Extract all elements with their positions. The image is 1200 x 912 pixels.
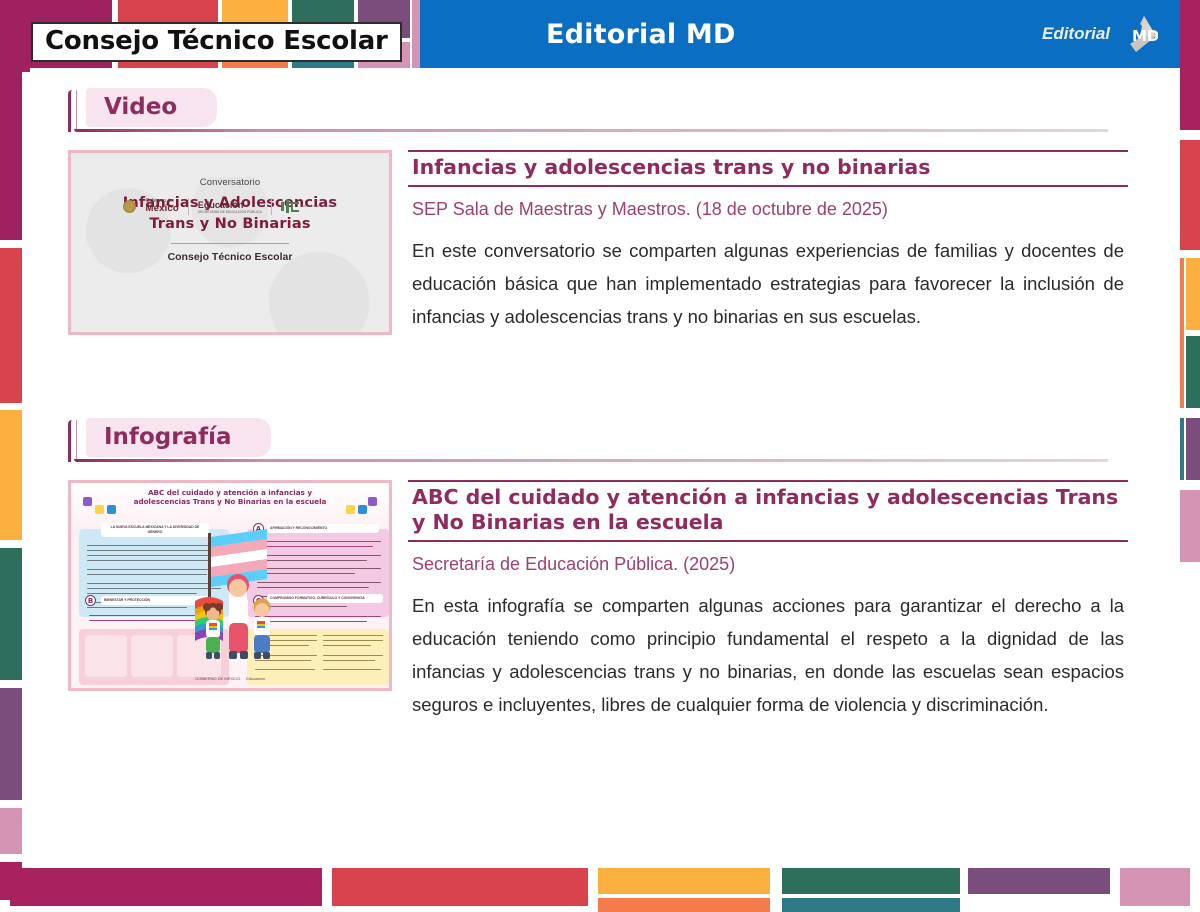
cube-c-left-icon xyxy=(95,505,104,514)
logo-wordmark: Editorial xyxy=(1042,24,1110,44)
video-cover-rule xyxy=(171,243,289,244)
cube-c-right-icon xyxy=(346,505,355,514)
bottom-decor-block-7 xyxy=(1120,868,1190,906)
brand-title: Editorial MD xyxy=(546,19,736,50)
infographic-cover-title: ABC del cuidado y atención a infancias y… xyxy=(122,488,338,506)
mexico-seal-icon xyxy=(123,200,136,213)
logo-divider xyxy=(188,198,189,215)
section-header-infografia: Infografía xyxy=(68,420,1128,462)
logo-divider-2 xyxy=(271,198,272,215)
resource-row-video: Gobierno de México Educación SECRETARÍA … xyxy=(68,150,1128,335)
resource-row-infografia: ABC del cuidado y atención a infancias y… xyxy=(68,480,1128,721)
section-video: Video Gobierno de México xyxy=(68,90,1128,335)
bottom-decor-block-6 xyxy=(968,868,1110,894)
bottom-decor-block-0 xyxy=(10,868,322,906)
right-decor-block-8 xyxy=(1180,490,1200,562)
video-source: SEP Sala de Maestras y Maestros. (18 de … xyxy=(408,187,1128,220)
bottom-decor-block-5 xyxy=(782,898,960,912)
video-cover-title-2: Trans y No Binarias xyxy=(71,215,389,234)
left-decor-block-5 xyxy=(0,808,22,854)
left-decor-block-4 xyxy=(0,688,22,800)
section-label-video: Video xyxy=(86,88,217,127)
illustration-trans-flag-figures xyxy=(189,523,285,673)
section-label-infografia: Infografía xyxy=(86,418,271,457)
video-cover-art: Gobierno de México Educación SECRETARÍA … xyxy=(71,177,389,335)
section-accent-bar xyxy=(68,90,77,132)
infographic-thumbnail-wrap[interactable]: ABC del cuidado y atención a infancias y… xyxy=(68,480,392,721)
page-title: Consejo Técnico Escolar xyxy=(31,22,402,62)
section-underline xyxy=(74,129,1108,132)
video-thumbnail[interactable]: Gobierno de México Educación SECRETARÍA … xyxy=(68,150,392,335)
infografia-title: ABC del cuidado y atención a infancias y… xyxy=(408,480,1128,542)
video-kicker: Conversatorio xyxy=(71,177,389,188)
footer-gobierno-logo: GOBIERNO DE MÉXICO xyxy=(195,676,240,681)
bottom-decor-block-3 xyxy=(598,898,770,912)
right-decor-block-1 xyxy=(1180,0,1200,130)
bottom-decor-block-4 xyxy=(782,868,960,894)
video-thumbnail-wrap[interactable]: Gobierno de México Educación SECRETARÍA … xyxy=(68,150,392,335)
video-text-column: Infancias y adolescencias trans y no bin… xyxy=(392,150,1128,335)
right-decor-block-2 xyxy=(1180,140,1200,250)
svg-text:MD: MD xyxy=(1132,27,1158,45)
infographic-thumbnail[interactable]: ABC del cuidado y atención a infancias y… xyxy=(68,480,392,691)
app-header: Editorial MD Editorial MD xyxy=(420,0,1180,68)
bottom-decor-strip xyxy=(0,858,1200,900)
left-decor-block-2 xyxy=(0,410,22,540)
left-decor-block-1 xyxy=(0,248,22,403)
video-cover-subtitle: Consejo Técnico Escolar xyxy=(71,251,389,263)
nem-logo-icon: NUEVA ESCUELA MEXICANA xyxy=(281,200,337,213)
md-triangle-icon: MD xyxy=(1114,14,1158,54)
gobierno-mexico-logo: Gobierno de México xyxy=(145,199,178,214)
video-description: En este conversatorio se comparten algun… xyxy=(408,220,1128,333)
section-header-video: Video xyxy=(68,90,1128,132)
video-cover-logos: Gobierno de México Educación SECRETARÍA … xyxy=(71,198,389,215)
right-decor-block-4 xyxy=(1186,258,1200,330)
cube-b-left-icon xyxy=(107,505,116,514)
cube-a-left-icon xyxy=(83,497,92,506)
bottom-decor-block-1 xyxy=(332,868,588,906)
infografia-description: En esta infografía se comparten algunas … xyxy=(408,575,1128,721)
educacion-logo: Educación SECRETARÍA DE EDUCACIÓN PÚBLIC… xyxy=(198,200,262,214)
infografia-source: Secretaría de Educación Pública. (2025) xyxy=(408,542,1128,575)
section-accent-bar-2 xyxy=(68,420,77,462)
content-card: Video Gobierno de México xyxy=(30,68,1180,858)
infographic-cover-art: ABC del cuidado y atención a infancias y… xyxy=(71,483,389,688)
infografia-text-column: ABC del cuidado y atención a infancias y… xyxy=(392,480,1128,721)
left-decor-strip xyxy=(0,0,30,900)
badge-b: B xyxy=(85,595,96,606)
right-decor-block-5 xyxy=(1186,336,1200,408)
video-title: Infancias y adolescencias trans y no bin… xyxy=(408,150,1128,187)
bottom-decor-block-2 xyxy=(598,868,770,894)
section-infografia: Infografía ABC del cuidado y atención xyxy=(68,420,1128,721)
editorial-md-logo: Editorial MD xyxy=(1042,14,1158,54)
cube-b-right-icon xyxy=(358,505,367,514)
section-underline-2 xyxy=(74,459,1108,462)
footer-educacion-logo: Educación xyxy=(246,676,265,681)
cube-a-right-icon xyxy=(368,497,377,506)
left-decor-block-3 xyxy=(0,548,22,680)
right-decor-block-7 xyxy=(1186,418,1200,480)
infographic-footer: GOBIERNO DE MÉXICO Educación xyxy=(71,673,389,683)
